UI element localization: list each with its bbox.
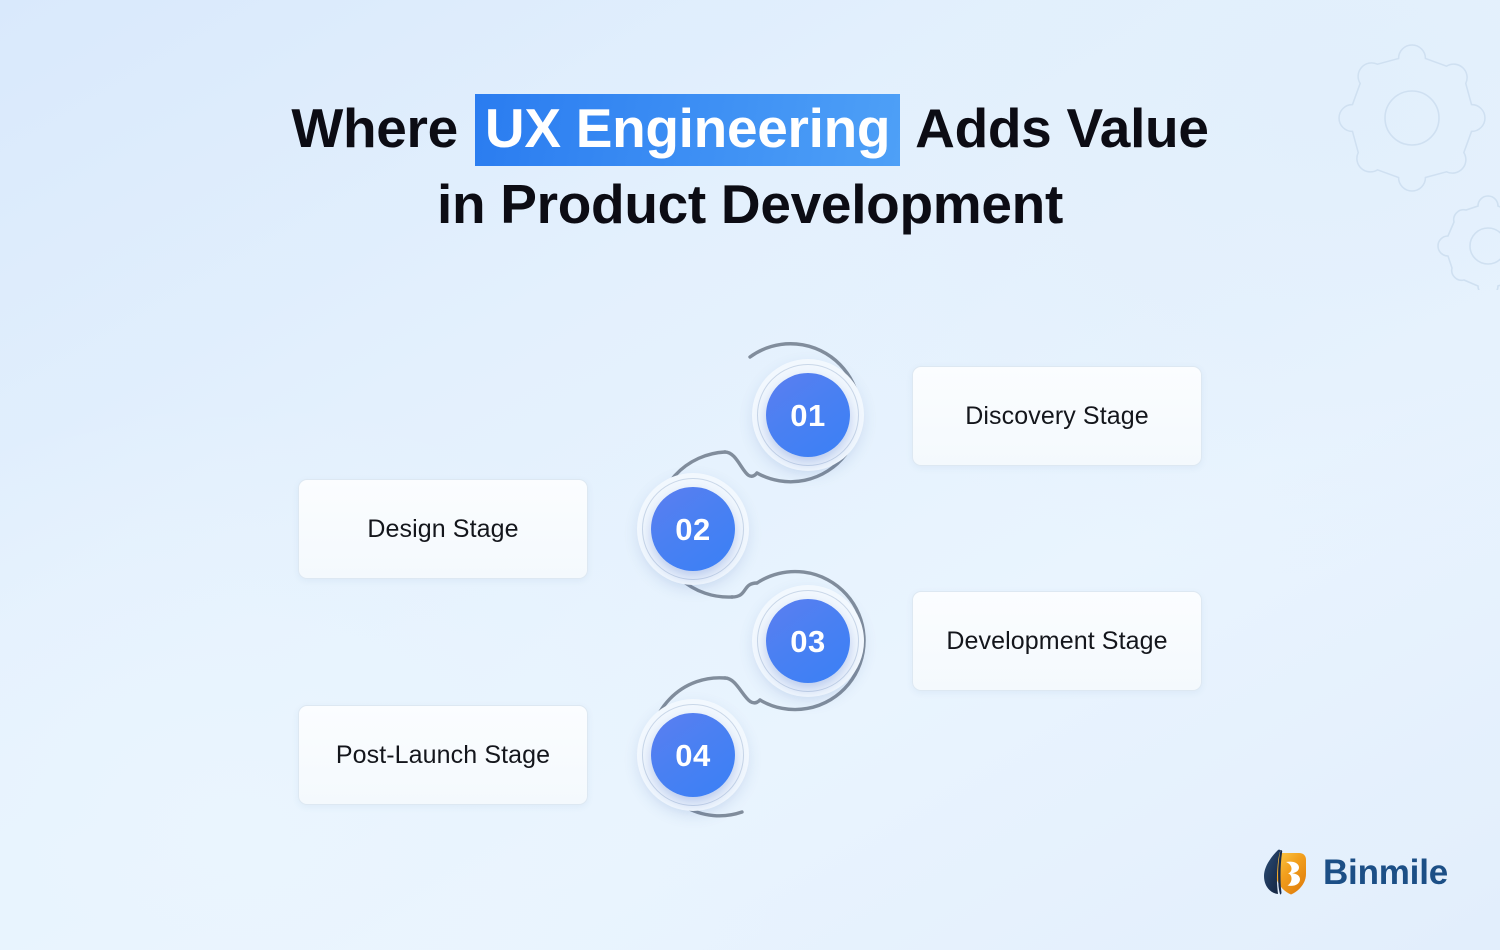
stage-number-02: 02 [675, 514, 710, 545]
stage-label-card-post-launch[interactable]: Post-Launch Stage [298, 705, 588, 805]
connector-01-02 [725, 452, 757, 476]
stage-chain-diagram: 01 02 03 04 Discovery Stage Design Stage [0, 0, 1500, 950]
binmile-logo-icon [1260, 846, 1312, 898]
stage-label-discovery: Discovery Stage [965, 402, 1149, 431]
stage-node-03[interactable]: 03 [752, 585, 864, 697]
connector-02-03 [732, 583, 757, 597]
stage-node-02[interactable]: 02 [637, 473, 749, 585]
stage-number-badge-02: 02 [651, 487, 735, 571]
stage-number-03: 03 [790, 626, 825, 657]
stage-number-01: 01 [790, 400, 825, 431]
infographic-canvas: Where UX Engineering Adds Value in Produ… [0, 0, 1500, 950]
stage-label-card-discovery[interactable]: Discovery Stage [912, 366, 1202, 466]
stage-number-04: 04 [675, 740, 710, 771]
stage-number-badge-04: 04 [651, 713, 735, 797]
connector-03-04 [725, 678, 760, 703]
stage-node-04[interactable]: 04 [637, 699, 749, 811]
stage-label-card-development[interactable]: Development Stage [912, 591, 1202, 691]
stage-label-design: Design Stage [367, 515, 518, 544]
brand-logo[interactable]: Binmile [1260, 846, 1448, 898]
stage-node-01[interactable]: 01 [752, 359, 864, 471]
stage-label-development: Development Stage [946, 627, 1167, 656]
stage-number-badge-03: 03 [766, 599, 850, 683]
chain-connector-arcs [0, 0, 1500, 950]
stage-number-badge-01: 01 [766, 373, 850, 457]
stage-label-post-launch: Post-Launch Stage [336, 741, 550, 770]
brand-name: Binmile [1323, 855, 1448, 890]
stage-label-card-design[interactable]: Design Stage [298, 479, 588, 579]
